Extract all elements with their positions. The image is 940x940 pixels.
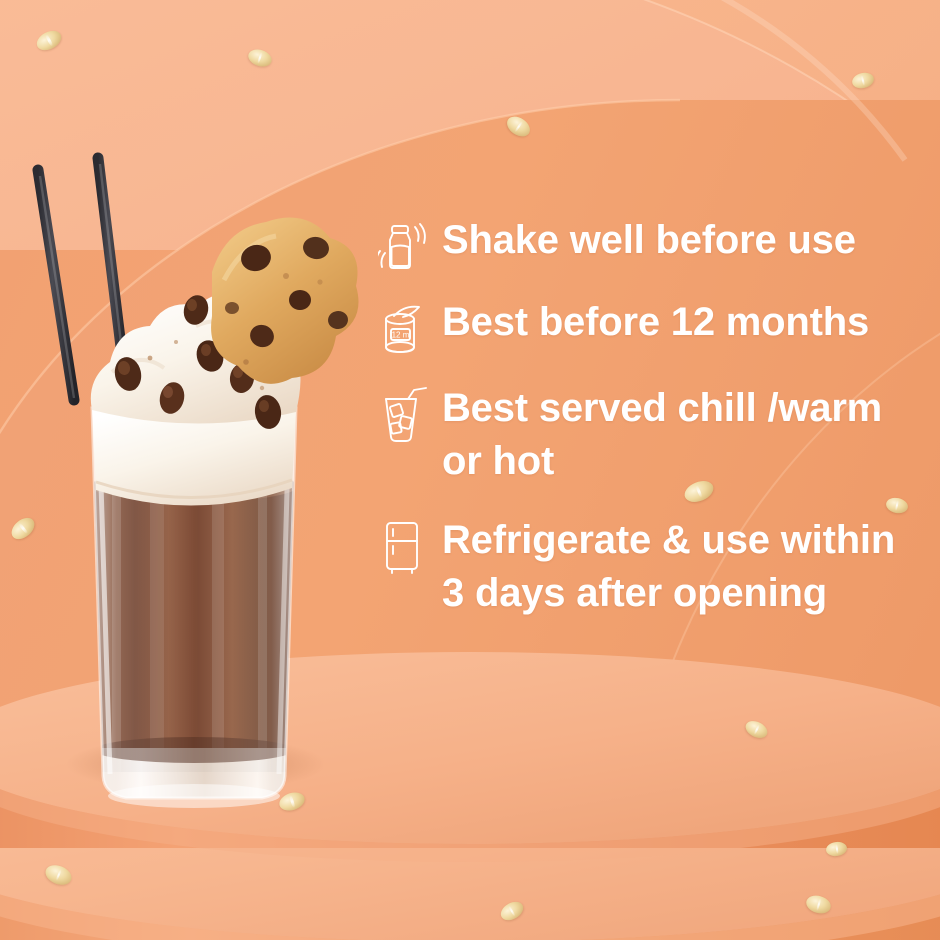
oat-flake [851,71,876,91]
oat-flake [743,718,770,742]
oat-flake [804,893,833,916]
can-calendar-icon: 12 m [378,296,432,360]
instruction-item-serve: Best served chill /warm or hot [378,382,918,488]
shake-bottle-icon [378,214,432,278]
instruction-line: 3 days after opening [442,567,895,620]
instruction-item-shake: Shake well before use [378,214,918,278]
oat-flake [498,898,527,924]
instruction-item-refrigerate: Refrigerate & use within 3 days after op… [378,514,918,620]
oat-flake [503,112,533,140]
oat-flake [43,862,75,889]
instruction-line: Best served chill /warm [442,382,882,435]
instruction-text: Best served chill /warm or hot [432,382,882,488]
instruction-text: Best before 12 months [432,296,869,348]
chocolate-chip-cookie [211,218,358,384]
instruction-line: or hot [442,435,882,488]
chocolate-milkshake-glass [0,130,400,810]
instructions-list: Shake well before use 12 m Best before 1… [378,214,918,638]
instruction-item-best-before: 12 m Best before 12 months [378,296,918,360]
can-badge-text: 12 m [392,330,410,339]
instruction-line: Refrigerate & use within [442,514,895,567]
instruction-text: Refrigerate & use within 3 days after op… [432,514,895,620]
oat-flake [246,47,274,70]
refrigerator-icon [378,514,432,578]
oat-flake [825,841,848,858]
oat-flake [34,27,65,54]
iced-glass-straw-icon [378,382,432,446]
product-info-banner: Shake well before use 12 m Best before 1… [0,0,940,940]
instruction-text: Shake well before use [432,214,856,266]
